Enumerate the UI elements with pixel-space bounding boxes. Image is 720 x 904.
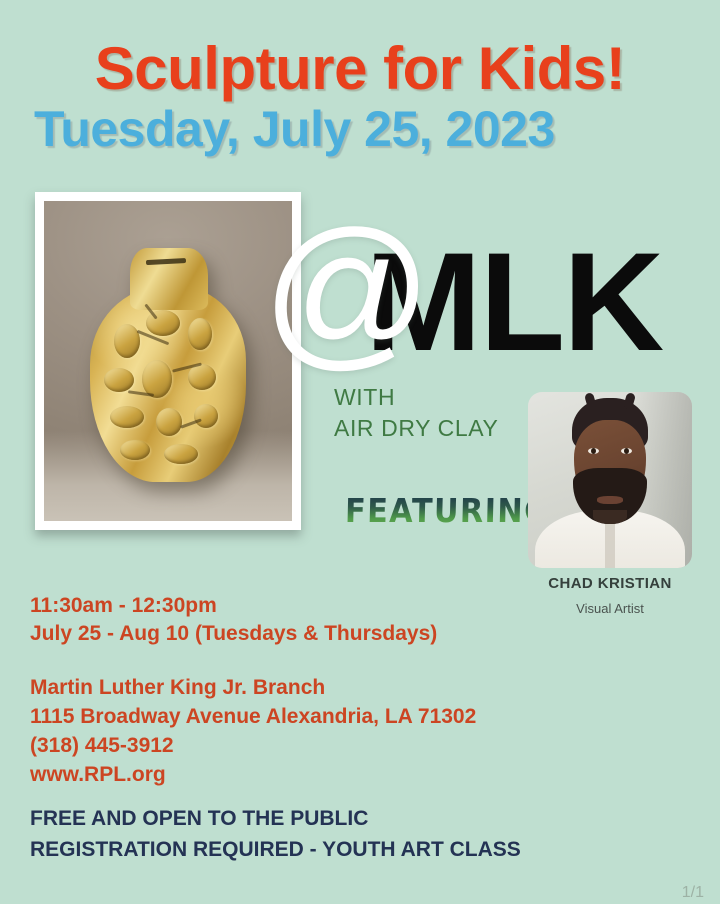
medium-line-2: AIR DRY CLAY: [334, 413, 498, 444]
location-website[interactable]: www.RPL.org: [30, 760, 476, 789]
flyer-poster: Sculpture for Kids! Tuesday, July 25, 20…: [0, 0, 720, 904]
notice-line-2: REGISTRATION REQUIRED - YOUTH ART CLASS: [30, 834, 521, 865]
artist-portrait: [528, 392, 692, 568]
medium-line-1: WITH: [334, 382, 498, 413]
location-block: Martin Luther King Jr. Branch 1115 Broad…: [30, 673, 476, 789]
artist-role: Visual Artist: [528, 601, 692, 616]
notice-line-1: FREE AND OPEN TO THE PUBLIC: [30, 803, 521, 834]
headline-block: Sculpture for Kids! Tuesday, July 25, 20…: [30, 38, 690, 156]
location-branch: Martin Luther King Jr. Branch: [30, 673, 476, 702]
schedule-block: 11:30am - 12:30pm July 25 - Aug 10 (Tues…: [30, 592, 437, 648]
schedule-dates: July 25 - Aug 10 (Tuesdays & Thursdays): [30, 620, 437, 648]
event-date: Tuesday, July 25, 2023: [34, 102, 690, 156]
location-phone[interactable]: (318) 445-3912: [30, 731, 476, 760]
at-symbol: @: [262, 206, 433, 374]
sculpture-photo: [44, 201, 292, 521]
medium-block: WITH AIR DRY CLAY: [334, 382, 498, 444]
page-title: Sculpture for Kids!: [30, 38, 690, 100]
gold-sculpture-illustration: [84, 240, 252, 492]
notice-block: FREE AND OPEN TO THE PUBLIC REGISTRATION…: [30, 803, 521, 865]
featuring-label: FEATURING: [345, 494, 551, 528]
artist-name: CHAD KRISTIAN: [528, 575, 692, 592]
schedule-time: 11:30am - 12:30pm: [30, 592, 437, 620]
page-indicator: 1/1: [682, 884, 704, 902]
location-address: 1115 Broadway Avenue Alexandria, LA 7130…: [30, 702, 476, 731]
